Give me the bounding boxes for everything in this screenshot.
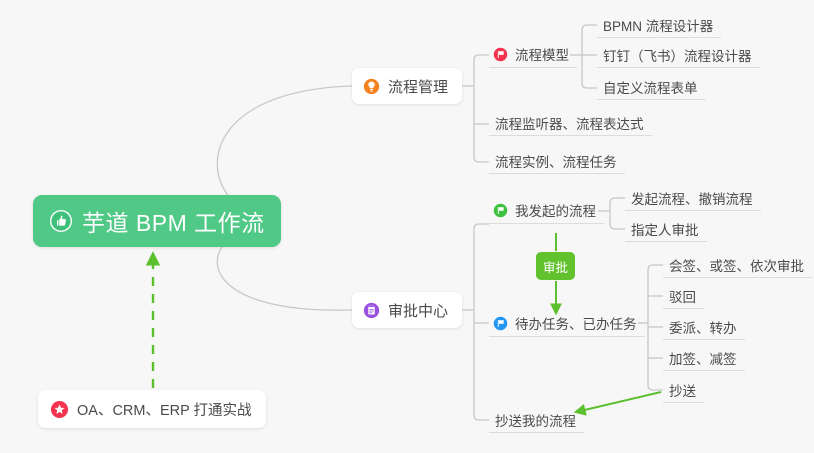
link-ac-trunk <box>474 224 489 420</box>
link-model-trunk-upper <box>582 25 597 30</box>
branch-label: 流程管理 <box>388 76 448 97</box>
topic-node-my-started-process[interactable]: 我发起的流程 <box>489 197 604 224</box>
leaf-node-delegate-transfer[interactable]: 委派、转办 <box>663 314 745 340</box>
link-started-trunk <box>610 198 625 229</box>
topic-node-cc-my-process[interactable]: 抄送我的流程 <box>489 407 584 433</box>
leaf-node-dingtalk-feishu-designer[interactable]: 钉钉（飞书）流程设计器 <box>597 42 760 68</box>
topic-label: 流程模型 <box>515 44 569 64</box>
topic-label: 我发起的流程 <box>515 200 596 220</box>
flag-icon <box>493 47 508 62</box>
flag-icon <box>493 203 508 218</box>
topic-label: 待办任务、已办任务 <box>515 313 637 333</box>
thumbs-up-icon <box>49 209 73 233</box>
leaf-node-add-remove-sign[interactable]: 加签、减签 <box>663 345 745 371</box>
topic-node-process-model[interactable]: 流程模型 <box>489 41 577 68</box>
callout-label: OA、CRM、ERP 打通实战 <box>77 399 252 420</box>
flag-icon <box>493 316 508 331</box>
leaf-node-carbon-copy[interactable]: 抄送 <box>663 377 704 403</box>
clipboard-icon <box>363 302 380 319</box>
link-pm-trunk-upper <box>474 55 489 60</box>
approval-badge-label: 审批 <box>543 257 568 276</box>
lightbulb-icon <box>363 78 380 95</box>
link-pm-trunk-lower <box>474 60 489 162</box>
root-label: 芋道 BPM 工作流 <box>82 204 265 238</box>
annotation-cc-arrow <box>576 392 661 412</box>
leaf-node-countersign[interactable]: 会签、或签、依次审批 <box>663 252 812 278</box>
root-node[interactable]: 芋道 BPM 工作流 <box>33 195 281 247</box>
link-todo-trunk <box>648 265 663 390</box>
leaf-node-start-cancel-process[interactable]: 发起流程、撤销流程 <box>625 185 761 211</box>
approval-badge[interactable]: 审批 <box>536 252 575 280</box>
link-model-trunk-lower <box>582 30 597 88</box>
topic-node-process-listener[interactable]: 流程监听器、流程表达式 <box>489 110 652 136</box>
branch-node-approval-center[interactable]: 审批中心 <box>352 292 462 328</box>
star-icon <box>50 400 69 419</box>
mindmap-canvas: 芋道 BPM 工作流 流程管理 流程模型 BPMN 流程设计器 钉钉（飞书）流程… <box>0 0 814 453</box>
topic-node-todo-done-tasks[interactable]: 待办任务、已办任务 <box>489 310 645 337</box>
branch-label: 审批中心 <box>388 300 448 321</box>
branch-node-process-management[interactable]: 流程管理 <box>352 68 462 104</box>
leaf-node-bpmn-designer[interactable]: BPMN 流程设计器 <box>597 12 721 38</box>
leaf-node-assigned-approval[interactable]: 指定人审批 <box>625 216 707 242</box>
leaf-node-reject[interactable]: 驳回 <box>663 283 704 309</box>
topic-node-process-instance[interactable]: 流程实例、流程任务 <box>489 148 625 174</box>
leaf-node-custom-process-form[interactable]: 自定义流程表单 <box>597 74 706 100</box>
callout-node-integration[interactable]: OA、CRM、ERP 打通实战 <box>38 390 266 428</box>
